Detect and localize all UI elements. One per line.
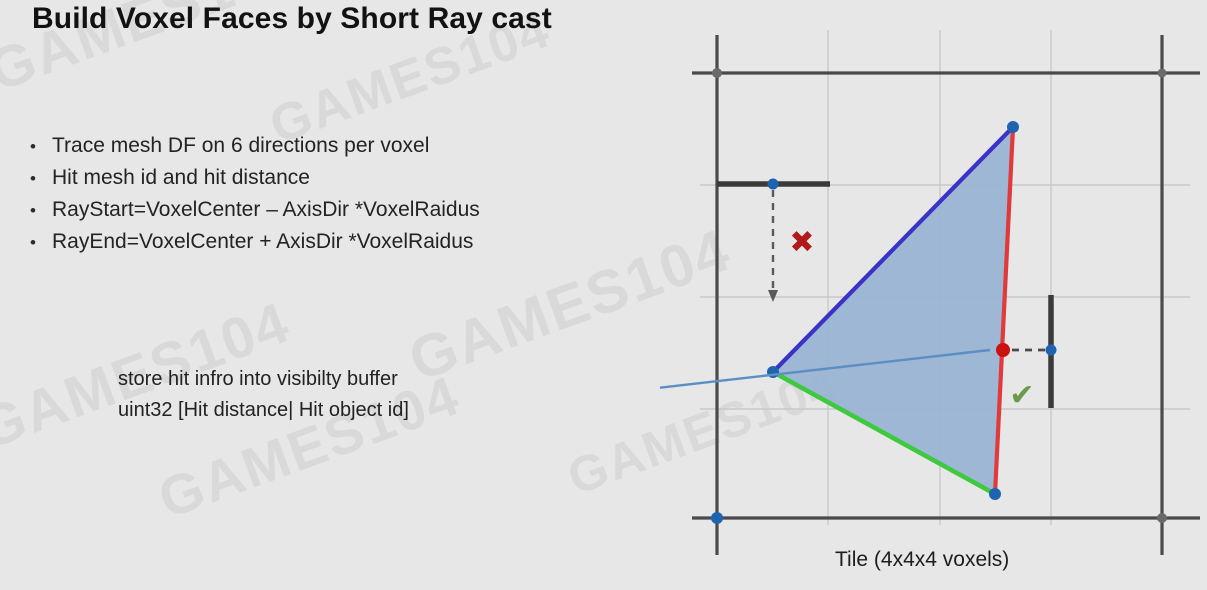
- frame-corner-dot-top-right: [1158, 69, 1167, 78]
- diagram-caption: Tile (4x4x4 voxels): [835, 548, 1009, 572]
- miss-probe-origin-dot: [768, 179, 779, 190]
- bullet-item: • Trace mesh DF on 6 directions per voxe…: [14, 134, 654, 166]
- hit-probe-origin-dot: [1046, 345, 1057, 356]
- slide-title: Build Voxel Faces by Short Ray cast: [32, 2, 552, 36]
- bullet-marker-icon: •: [14, 170, 52, 187]
- bullet-marker-icon: •: [14, 138, 52, 155]
- bullet-text: Hit mesh id and hit distance: [52, 166, 310, 190]
- visibility-buffer-annotation: store hit infro into visibilty buffer ui…: [118, 364, 409, 426]
- bullet-item: • RayEnd=VoxelCenter + AxisDir *VoxelRai…: [14, 230, 654, 262]
- bullet-text: Trace mesh DF on 6 directions per voxel: [52, 134, 429, 158]
- annotation-line-2: uint32 [Hit distance| Hit object id]: [118, 395, 409, 426]
- hit-point-dot: [996, 343, 1010, 357]
- triangle-vertex-dot-bottom: [989, 488, 1001, 500]
- bullet-list: • Trace mesh DF on 6 directions per voxe…: [14, 134, 654, 262]
- bullet-text: RayStart=VoxelCenter – AxisDir *VoxelRai…: [52, 198, 480, 222]
- voxel-tile-diagram: ✖ ✔: [660, 20, 1207, 590]
- slide-canvas: GAMES104 GAMES104 GAMES104 GAMES104 GAME…: [0, 0, 1207, 590]
- annotation-line-1: store hit infro into visibilty buffer: [118, 364, 409, 395]
- bullet-marker-icon: •: [14, 234, 52, 251]
- bullet-item: • Hit mesh id and hit distance: [14, 166, 654, 198]
- triangle-vertex-dot-top: [1007, 121, 1019, 133]
- frame-corner-dot-bottom-left: [711, 512, 723, 524]
- bullet-text: RayEnd=VoxelCenter + AxisDir *VoxelRaidu…: [52, 230, 473, 254]
- frame-corner-dot-top-left: [712, 68, 722, 78]
- miss-mark-icon: ✖: [789, 225, 814, 260]
- miss-ray-arrowhead: [768, 290, 778, 302]
- frame-corner-dot-bottom-right: [1157, 513, 1167, 523]
- hit-mark-icon: ✔: [1009, 378, 1034, 413]
- bullet-item: • RayStart=VoxelCenter – AxisDir *VoxelR…: [14, 198, 654, 230]
- bullet-marker-icon: •: [14, 202, 52, 219]
